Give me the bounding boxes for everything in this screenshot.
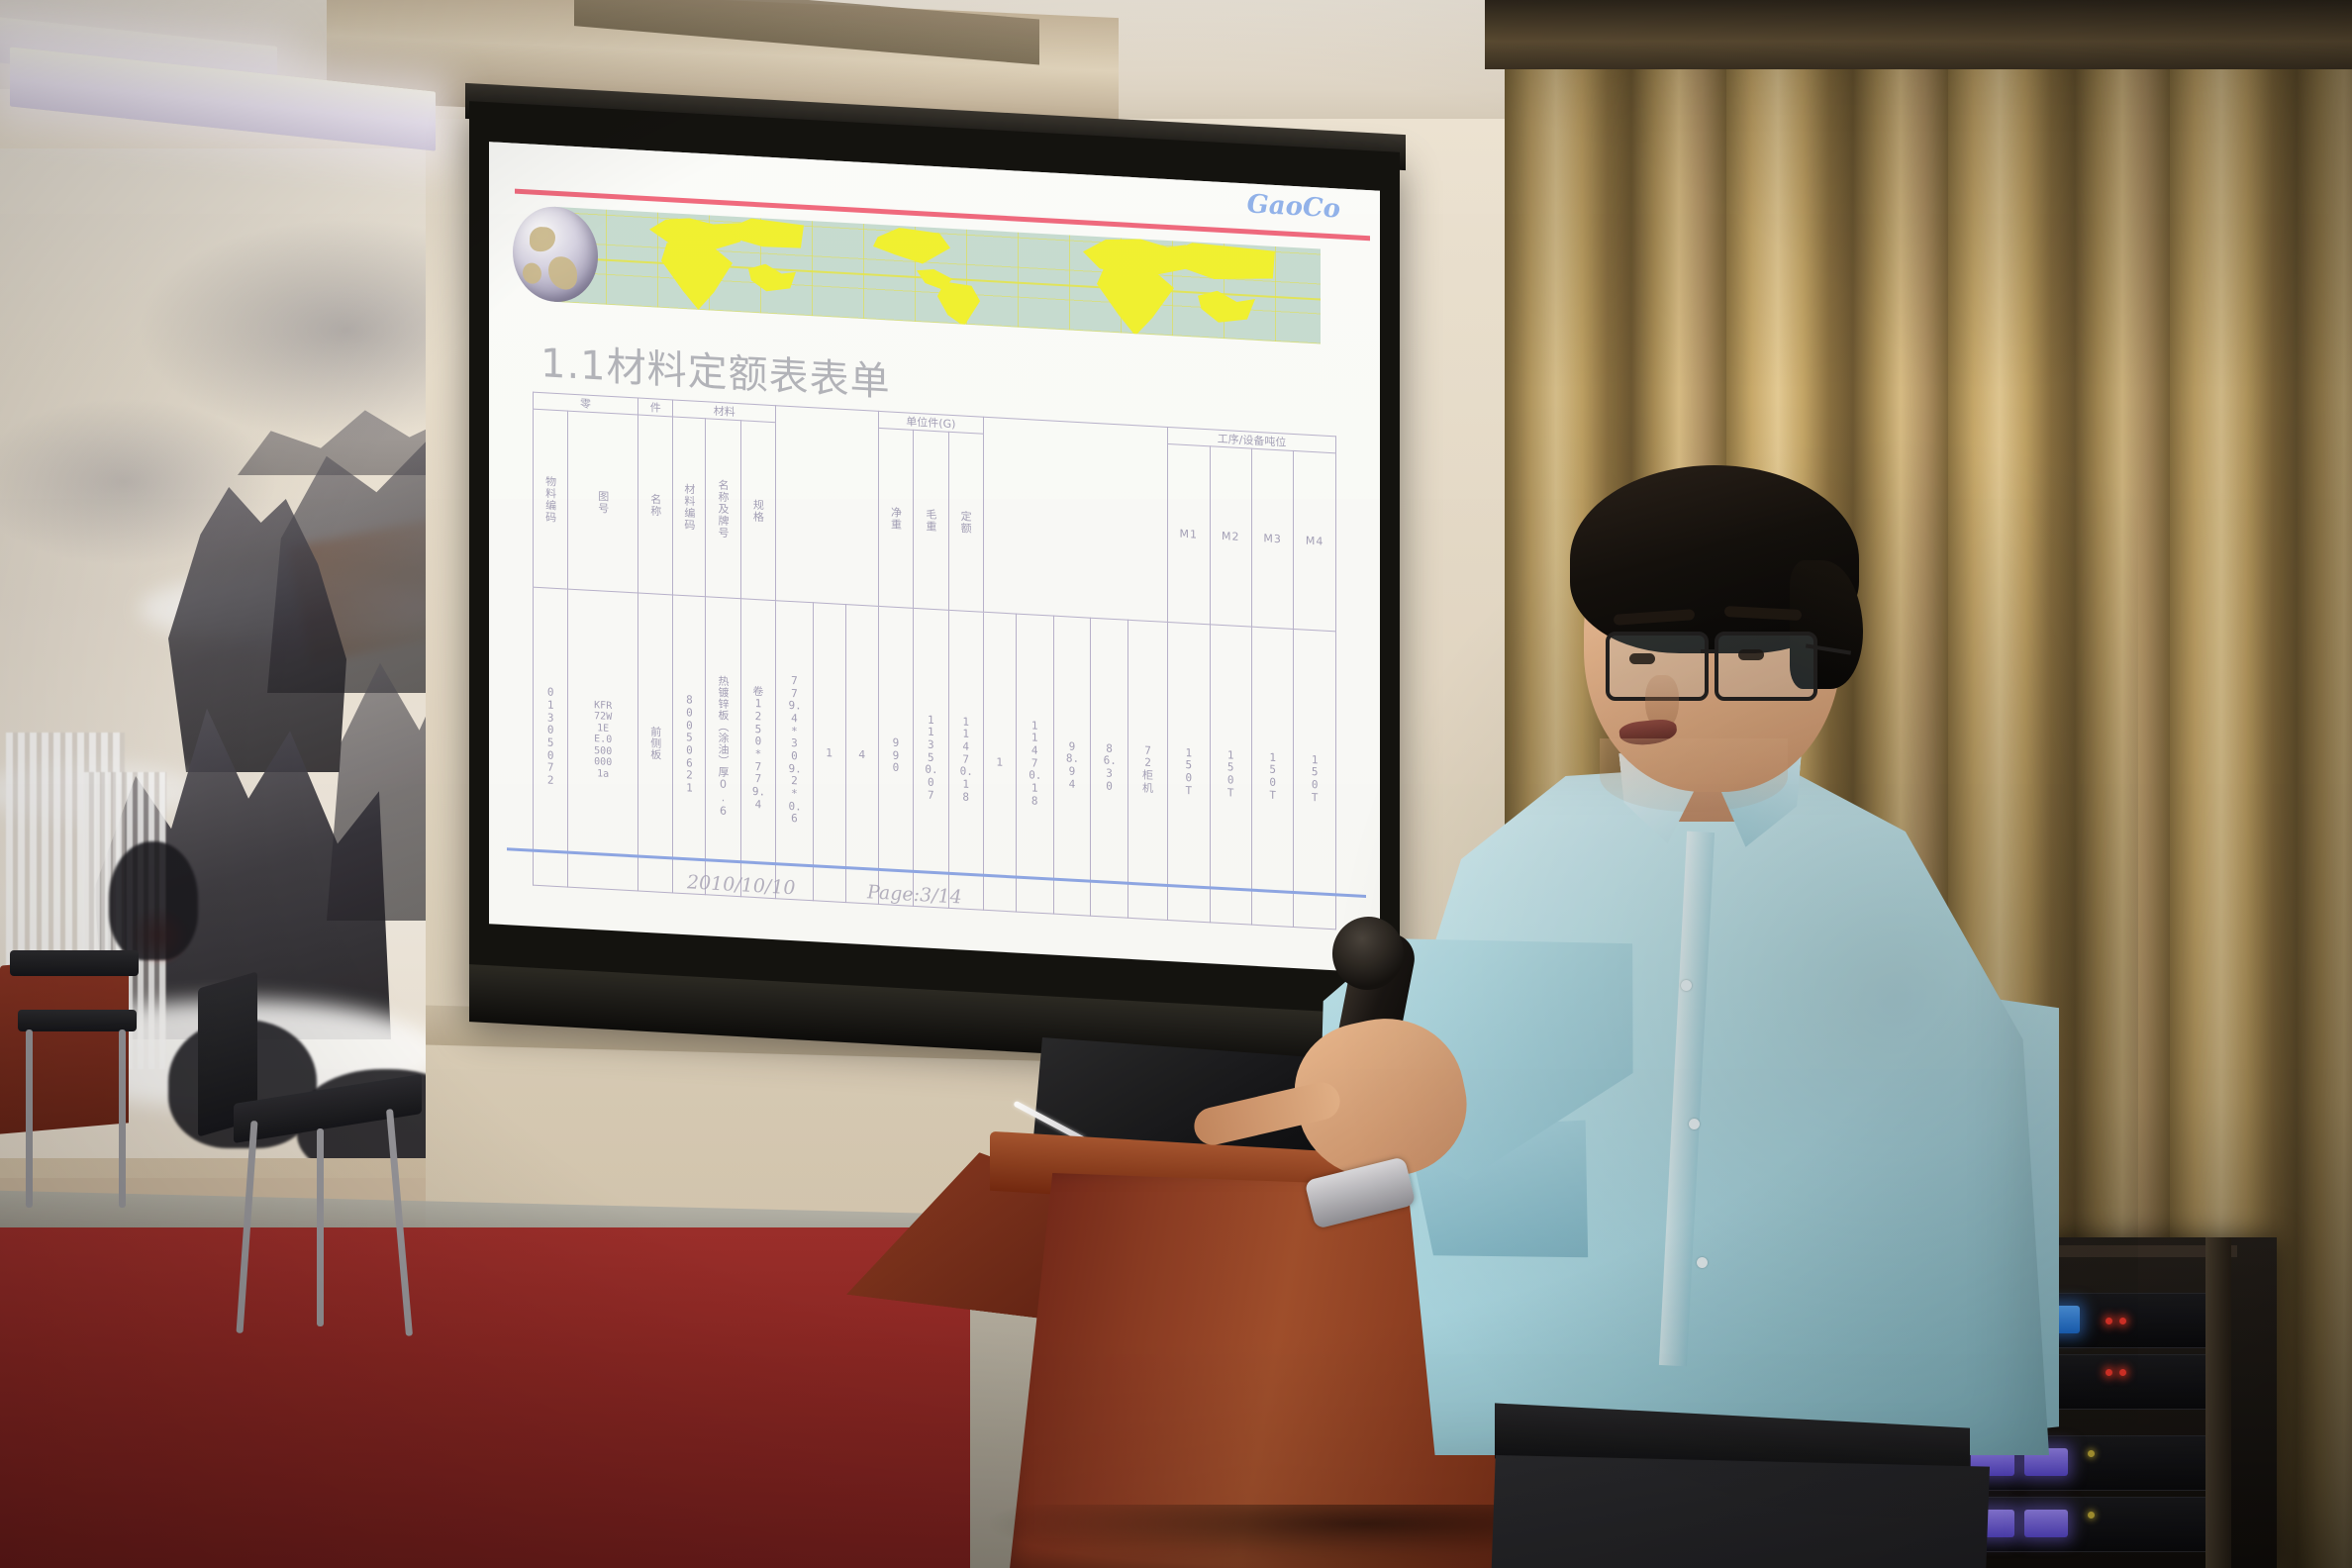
- presenter-trousers: [1475, 1455, 1990, 1568]
- cell-unit-product-quota: 11470.18: [1016, 614, 1053, 914]
- cell-m3: 150T: [1251, 627, 1293, 927]
- cell-cut-utilization: 98.94: [1053, 616, 1091, 916]
- col-quota: 定额: [948, 432, 983, 612]
- cell-blank-pieces: 1: [813, 603, 845, 903]
- col-name: 名称: [638, 415, 673, 595]
- photo-scene: GaoCo 1.1材料定额表表单: [0, 0, 2352, 1568]
- cell-name: 前侧板: [638, 593, 673, 893]
- col-drawing-no: 图号: [568, 411, 638, 593]
- cell-mat-name-brand: 热镀锌板（涂油）厚0.6: [706, 597, 740, 897]
- cell-blank-size: 779.4*309.2*0.6: [776, 601, 814, 901]
- col-m4: M4: [1294, 450, 1336, 631]
- footer-page-number: Page:3/14: [867, 881, 962, 908]
- red-carpet: [0, 1227, 970, 1568]
- material-quota-table: 零 件 材料 单位件(G) 工序/设备吨位 物料编码 图号 名称 材料编码 名称…: [533, 392, 1336, 902]
- cell-total-pieces: 4: [845, 605, 878, 905]
- cell-drawing-no: KFR72W1EE.05000001a: [568, 589, 638, 891]
- cell-quota: 11470.18: [948, 610, 983, 910]
- col-gross-weight: 毛重: [914, 430, 948, 610]
- cell-m4: 150T: [1294, 629, 1336, 929]
- cell-material-code: 013050 72: [534, 587, 568, 887]
- cell-material-utilization: 86.30: [1091, 618, 1128, 918]
- folding-chair-back: [0, 950, 148, 1247]
- cell-m1: 150T: [1168, 622, 1210, 922]
- cell-m2: 150T: [1210, 625, 1251, 925]
- col-m1: M1: [1168, 443, 1210, 624]
- cell-net-weight: 990: [878, 606, 913, 906]
- curtain-rail: [1485, 0, 2352, 69]
- gaoco-logo: GaoCo: [1247, 189, 1340, 224]
- col-m2: M2: [1210, 446, 1251, 627]
- col-spec: 规格: [740, 421, 775, 601]
- col-net-weight: 净重: [878, 428, 913, 608]
- folding-chair-front: [198, 980, 455, 1346]
- cell-mat-code: 8005 0621: [673, 595, 706, 895]
- presenter: [1376, 465, 2089, 1568]
- cell-machine-type: 72柜机: [1127, 620, 1167, 920]
- cell-spec: 卷1250*779.4: [740, 599, 775, 899]
- group-header-piece: 件: [638, 398, 673, 417]
- col-m3: M3: [1251, 448, 1293, 629]
- col-mat-name-brand: 名称及牌号: [706, 419, 740, 599]
- eyeglasses-right-lens: [1715, 632, 1817, 701]
- col-material-code: 物料编码: [534, 409, 568, 589]
- cell-gross-weight: 11350.07: [914, 608, 948, 908]
- footer-date: 2010/10/10: [687, 871, 796, 899]
- group-header-blank-1: [776, 406, 879, 607]
- col-mat-code: 材料编码: [673, 417, 706, 597]
- projected-slide: GaoCo 1.1材料定额表表单: [489, 142, 1380, 973]
- group-header-blank-2: [983, 417, 1167, 622]
- cell-per-unit-count: 1: [983, 612, 1016, 912]
